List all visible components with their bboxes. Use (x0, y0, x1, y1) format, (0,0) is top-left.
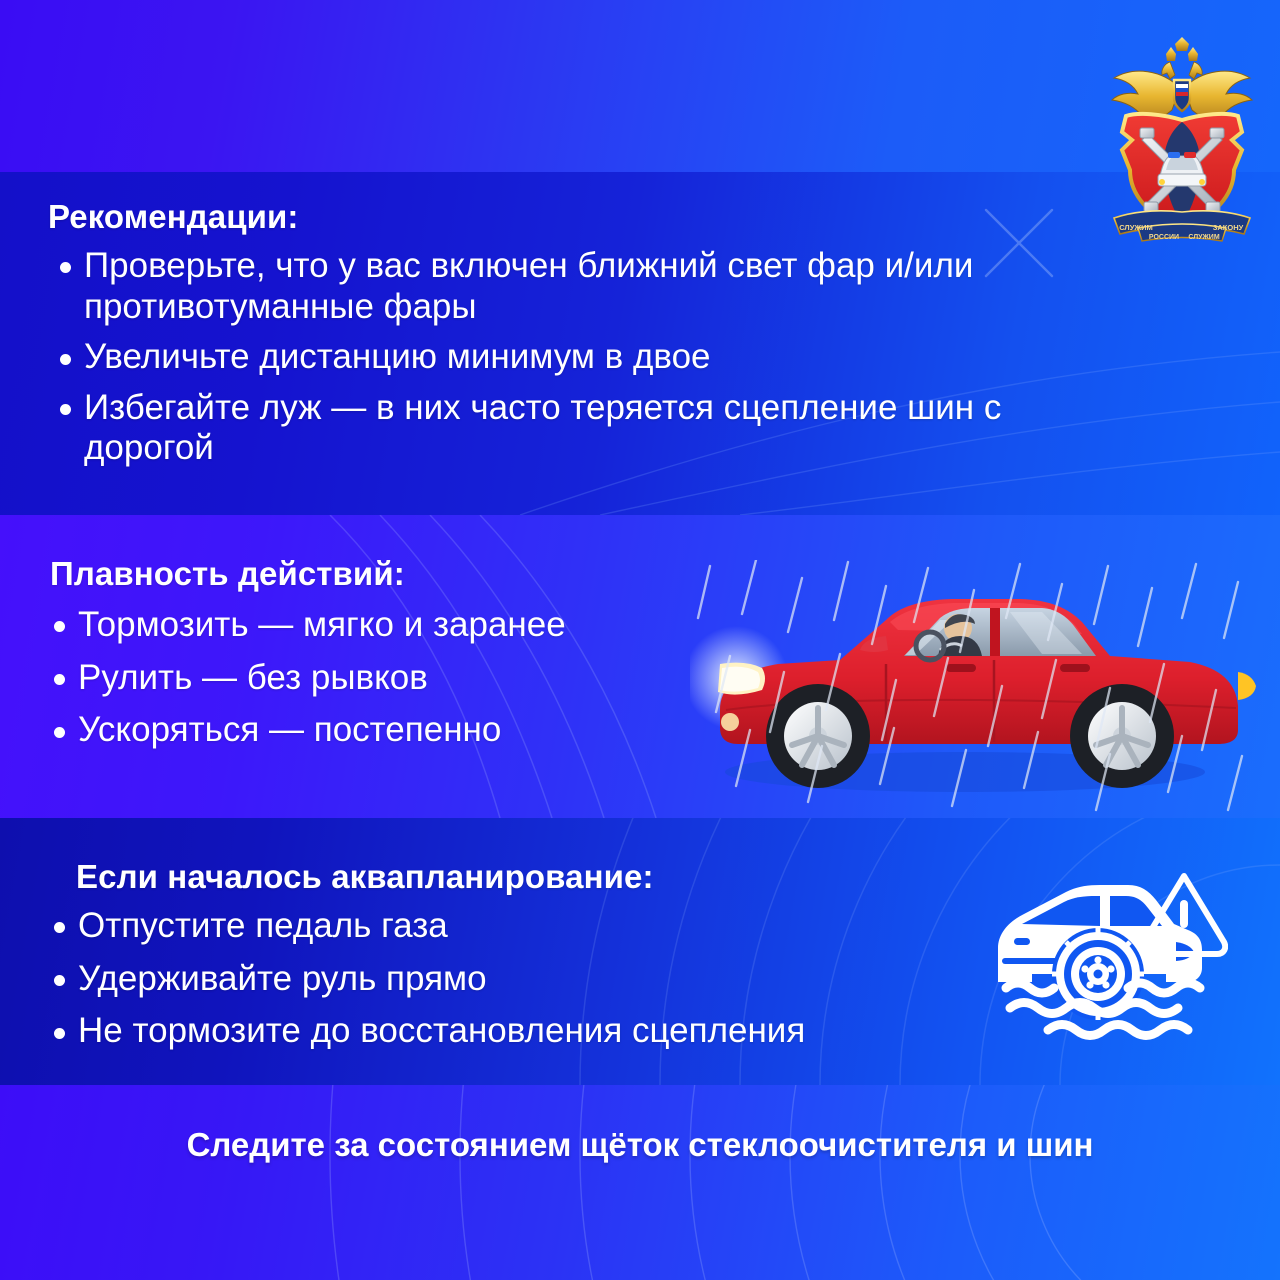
smoothness-block: Плавность действий: Тормозить — мягко и … (42, 555, 742, 763)
list-item: Не тормозите до восстановления сцепления (42, 1011, 1002, 1052)
motto-center-top: РОССИИ (1149, 234, 1179, 241)
list-item: Тормозить — мягко и заранее (42, 605, 742, 646)
block3-heading: Если началось аквапланирование: (76, 858, 1002, 896)
car-aquaplaning-warning-icon (988, 864, 1228, 1054)
list-item: Удерживайте руль прямо (42, 959, 1002, 1000)
list-item: Увеличьте дистанцию минимум в двое (48, 337, 1078, 378)
list-item: Проверьте, что у вас включен ближний све… (48, 246, 1078, 327)
block2-list: Тормозить — мягко и заранее Рулить — без… (42, 605, 742, 751)
arc-decor-bottom (0, 1085, 1280, 1280)
recommendations-block: Рекомендации: Проверьте, что у вас включ… (48, 198, 1078, 479)
block1-heading: Рекомендации: (48, 198, 1078, 236)
motto-right: ЗАКОНУ (1213, 223, 1244, 232)
list-item: Отпустите педаль газа (42, 906, 1002, 947)
motto-left: СЛУЖИМ (1119, 223, 1153, 232)
front-wheel (766, 684, 870, 788)
footer-text: Следите за состоянием щёток стеклоочисти… (0, 1126, 1280, 1164)
red-sedan-rain-illustration (690, 560, 1270, 818)
block3-list: Отпустите педаль газа Удерживайте руль п… (42, 906, 1002, 1052)
emblem-motto-banner: СЛУЖИМ ЗАКОНУ РОССИИ СЛУЖИМ (1114, 211, 1250, 241)
band-bottom (0, 1085, 1280, 1280)
block2-heading: Плавность действий: (50, 555, 742, 593)
aquaplaning-block: Если началось аквапланирование: Отпустит… (42, 858, 1002, 1064)
list-item: Ускоряться — постепенно (42, 710, 742, 751)
band-top (0, 0, 1280, 172)
mvd-russia-emblem: СЛУЖИМ ЗАКОНУ РОССИИ СЛУЖИМ (1092, 36, 1272, 246)
poster-root: СЛУЖИМ ЗАКОНУ РОССИИ СЛУЖИМ (0, 0, 1280, 1280)
list-item: Рулить — без рывков (42, 658, 742, 699)
rear-wheel (1070, 684, 1174, 788)
block1-list: Проверьте, что у вас включен ближний све… (48, 246, 1078, 469)
motto-center-bottom: СЛУЖИМ (1188, 234, 1220, 241)
list-item: Избегайте луж — в них часто теряется сце… (48, 388, 1078, 469)
